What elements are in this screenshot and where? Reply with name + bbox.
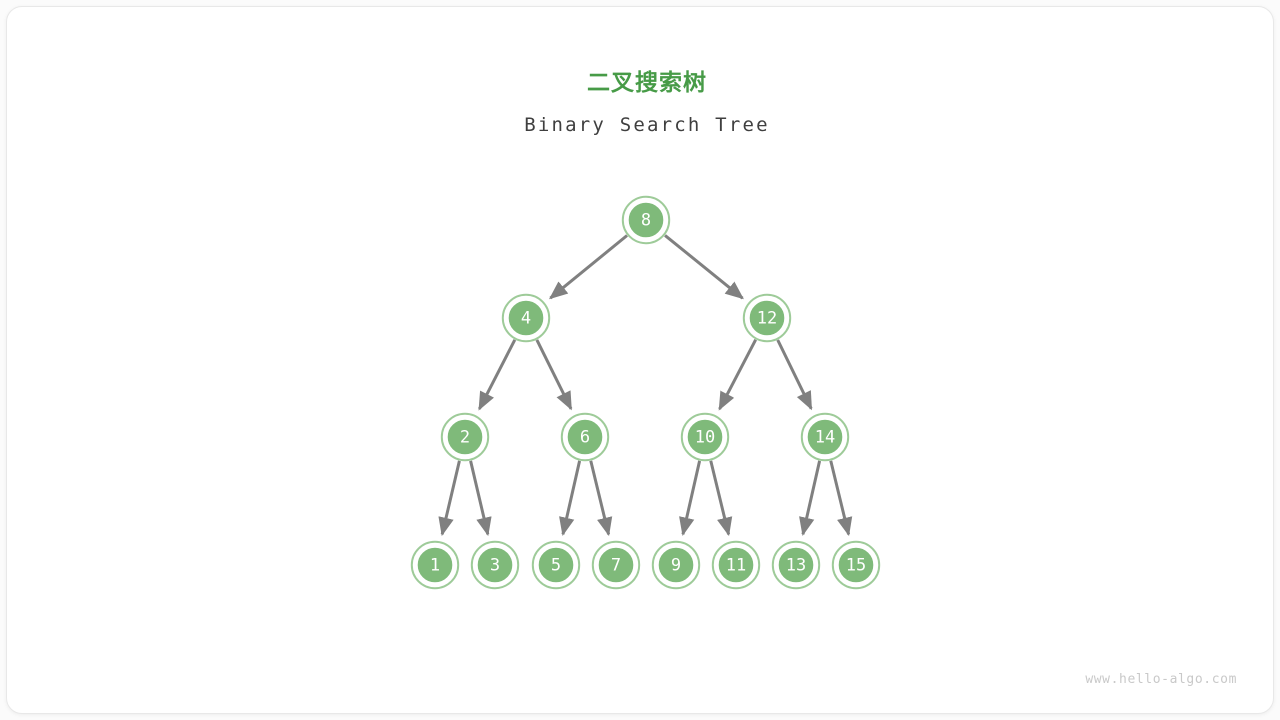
node-label: 5 — [551, 556, 561, 576]
node-label: 9 — [671, 556, 681, 576]
node-label: 1 — [430, 556, 440, 576]
tree-node-1[interactable]: 1 — [412, 542, 458, 588]
tree-node-4[interactable]: 4 — [503, 295, 549, 341]
tree-node-11[interactable]: 11 — [713, 542, 759, 588]
node-label: 13 — [786, 556, 806, 576]
tree-edge-n10-n11 — [711, 461, 729, 535]
tree-edge-n8-n4 — [550, 236, 627, 299]
binary-search-tree-diagram: 841226101413579111315 — [7, 7, 1274, 714]
node-label: 15 — [846, 556, 866, 576]
tree-node-13[interactable]: 13 — [773, 542, 819, 588]
tree-node-14[interactable]: 14 — [802, 414, 848, 460]
tree-edge-n6-n7 — [591, 461, 609, 535]
tree-node-8[interactable]: 8 — [623, 197, 669, 243]
node-label: 6 — [580, 428, 590, 448]
node-label: 4 — [521, 309, 531, 329]
tree-edge-n14-n15 — [831, 461, 849, 535]
tree-node-10[interactable]: 10 — [682, 414, 728, 460]
tree-node-12[interactable]: 12 — [744, 295, 790, 341]
node-label: 7 — [611, 556, 621, 576]
tree-node-3[interactable]: 3 — [472, 542, 518, 588]
diagram-card: 二叉搜索树 Binary Search Tree 841226101413579… — [6, 6, 1274, 714]
tree-node-15[interactable]: 15 — [833, 542, 879, 588]
page-root: 二叉搜索树 Binary Search Tree 841226101413579… — [0, 0, 1280, 720]
node-label: 10 — [695, 428, 715, 448]
tree-nodes: 841226101413579111315 — [412, 197, 879, 588]
tree-edge-n12-n14 — [778, 340, 811, 409]
tree-edge-n8-n12 — [665, 235, 742, 298]
tree-edge-n4-n6 — [537, 340, 571, 409]
tree-edge-n6-n5 — [563, 461, 580, 534]
tree-edge-n12-n10 — [720, 340, 756, 409]
node-label: 11 — [726, 556, 746, 576]
tree-edge-n10-n9 — [683, 461, 700, 534]
tree-node-6[interactable]: 6 — [562, 414, 608, 460]
watermark-url: www.hello-algo.com — [1085, 672, 1237, 687]
tree-node-2[interactable]: 2 — [442, 414, 488, 460]
node-label: 12 — [757, 309, 777, 329]
node-label: 8 — [641, 211, 651, 231]
tree-edge-n2-n3 — [471, 461, 488, 534]
node-label: 3 — [490, 556, 500, 576]
tree-node-5[interactable]: 5 — [533, 542, 579, 588]
tree-edge-n2-n1 — [442, 461, 459, 534]
node-label: 2 — [460, 428, 470, 448]
tree-edges — [442, 235, 848, 534]
tree-edge-n4-n2 — [479, 340, 514, 409]
tree-node-7[interactable]: 7 — [593, 542, 639, 588]
node-label: 14 — [815, 428, 835, 448]
tree-node-9[interactable]: 9 — [653, 542, 699, 588]
tree-edge-n14-n13 — [803, 461, 820, 534]
